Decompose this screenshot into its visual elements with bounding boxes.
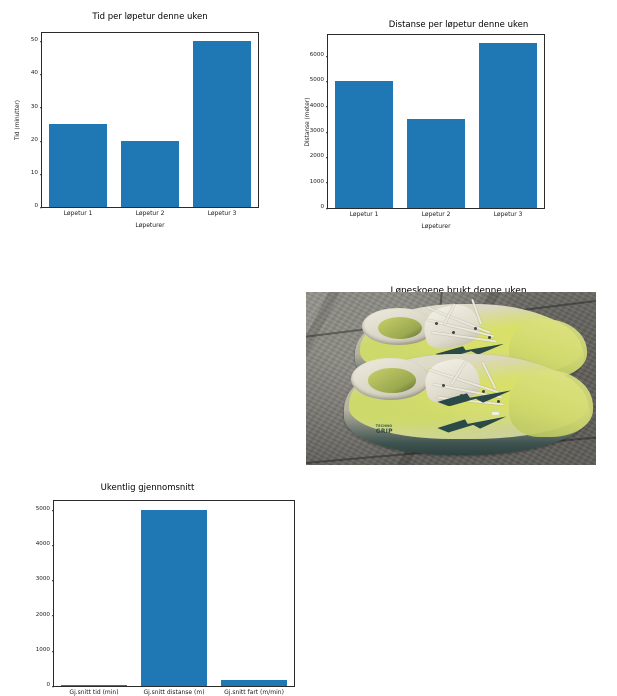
shoe-opening <box>378 317 422 339</box>
y-axis-tick-distanse: 2000 <box>310 155 328 161</box>
x-axis-tick-ukentlig-0: Gj.snitt tid (min) <box>69 686 118 696</box>
y-axis-tick-ukentlig: 0 <box>46 683 54 689</box>
y-axis-tick-tid: 0 <box>34 204 42 210</box>
y-axis-label-tid: Tid (minutter) <box>15 100 21 140</box>
plot-area-tid: 01020304050Løpetur 1Løpetur 2Løpetur 3 <box>41 32 259 208</box>
y-axis-tick-distanse: 0 <box>320 205 328 211</box>
chart-panel-ukentlig: Ukentlig gjennomsnitt 010002000300040005… <box>0 238 300 490</box>
bar-tid-2 <box>193 41 251 207</box>
y-axis-tick-tid: 10 <box>31 171 42 177</box>
y-axis-tick-ukentlig: 2000 <box>36 613 54 619</box>
y-axis-tick-ukentlig: 5000 <box>36 507 54 513</box>
y-axis-tick-distanse: 5000 <box>310 78 328 84</box>
shoe-opening <box>368 368 415 392</box>
bar-group-distanse <box>328 35 544 208</box>
shoe-label-tag <box>492 412 499 415</box>
y-axis-tick-ukentlig: 1000 <box>36 648 54 654</box>
shoe-eyelet <box>452 331 455 334</box>
bar-ukentlig-1 <box>141 510 207 686</box>
shoe-grip-text: TECHNO GRIP <box>376 425 393 434</box>
bar-tid-1 <box>121 141 179 207</box>
bar-tid-0 <box>49 124 107 207</box>
y-axis-tick-tid: 30 <box>31 105 42 111</box>
x-axis-tick-distanse-0: Løpetur 1 <box>350 208 379 218</box>
plot-area-ukentlig: 010002000300040005000Gj.snitt tid (min)G… <box>53 500 295 687</box>
x-axis-tick-ukentlig-1: Gj.snitt distanse (m) <box>143 686 204 696</box>
plot-area-distanse: 0100020003000400050006000Løpetur 1Løpetu… <box>327 34 545 209</box>
photo-panel: Løpeskoene brukt denne uken <box>300 275 617 490</box>
y-axis-tick-distanse: 4000 <box>310 104 328 110</box>
shoe-grip-maintext: GRIP <box>376 428 393 435</box>
chart-title-tid: Tid per løpetur denne uken <box>0 12 300 22</box>
x-axis-label-tid: Løpeturer <box>41 222 259 229</box>
x-axis-tick-tid-0: Løpetur 1 <box>64 207 93 217</box>
y-axis-tick-ukentlig: 4000 <box>36 542 54 548</box>
x-axis-tick-tid-1: Løpetur 2 <box>136 207 165 217</box>
shoe-front: TECHNO GRIP <box>344 354 591 454</box>
shoe-toecap <box>509 370 593 436</box>
running-shoes-photo: TECHNO GRIP <box>306 292 596 465</box>
y-axis-tick-distanse: 1000 <box>310 180 328 186</box>
x-axis-tick-tid-2: Løpetur 3 <box>208 207 237 217</box>
y-axis-tick-distanse: 3000 <box>310 129 328 135</box>
chart-panel-distanse: Distanse per løpetur denne uken Distanse… <box>300 0 617 240</box>
chart-title-distanse: Distanse per løpetur denne uken <box>300 20 617 30</box>
y-axis-tick-tid: 50 <box>31 38 42 44</box>
bar-group-ukentlig <box>54 501 294 686</box>
bar-group-tid <box>42 33 258 207</box>
bar-distanse-2 <box>479 43 537 208</box>
x-axis-label-distanse: Løpeturer <box>327 223 545 230</box>
bar-distanse-0 <box>335 81 393 208</box>
chart-title-ukentlig: Ukentlig gjennomsnitt <box>0 483 295 493</box>
y-axis-tick-tid: 40 <box>31 72 42 78</box>
bar-distanse-1 <box>407 119 465 208</box>
y-axis-tick-tid: 20 <box>31 138 42 144</box>
x-axis-tick-distanse-1: Løpetur 2 <box>422 208 451 218</box>
x-axis-tick-distanse-2: Løpetur 3 <box>494 208 523 218</box>
y-axis-tick-ukentlig: 3000 <box>36 577 54 583</box>
x-axis-tick-ukentlig-2: Gj.snitt fart (m/min) <box>224 686 284 696</box>
chart-panel-tid: Tid per løpetur denne uken Tid (minutter… <box>0 0 300 240</box>
y-axis-tick-distanse: 6000 <box>310 53 328 59</box>
